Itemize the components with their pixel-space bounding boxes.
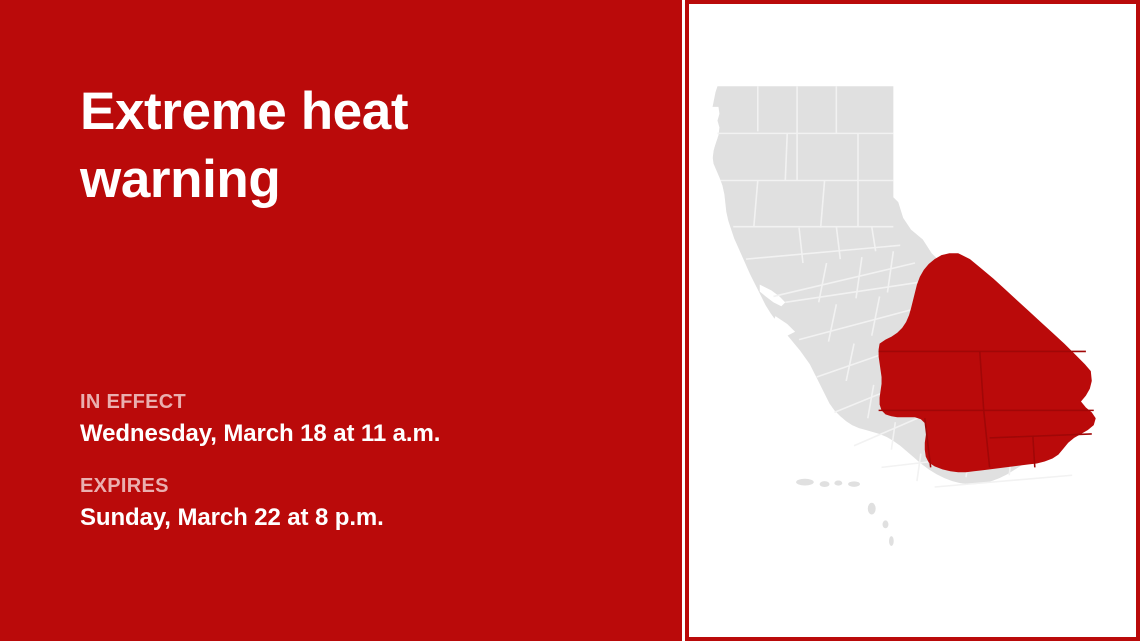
map-panel	[685, 0, 1140, 641]
expires-group: EXPIRES Sunday, March 22 at 8 p.m.	[80, 476, 660, 532]
in-effect-group: IN EFFECT Wednesday, March 18 at 11 a.m.	[80, 392, 660, 448]
in-effect-value: Wednesday, March 18 at 11 a.m.	[80, 420, 660, 448]
expires-value: Sunday, March 22 at 8 p.m.	[80, 504, 660, 532]
alert-timing-block: IN EFFECT Wednesday, March 18 at 11 a.m.…	[80, 392, 660, 531]
alert-info-panel: Extreme heat warning IN EFFECT Wednesday…	[0, 0, 682, 641]
in-effect-label: IN EFFECT	[80, 392, 660, 412]
extreme-heat-warning-graphic: Extreme heat warning IN EFFECT Wednesday…	[0, 0, 1140, 641]
expires-label: EXPIRES	[80, 476, 660, 496]
california-map	[689, 4, 1136, 637]
page-title: Extreme heat warning	[80, 78, 640, 215]
